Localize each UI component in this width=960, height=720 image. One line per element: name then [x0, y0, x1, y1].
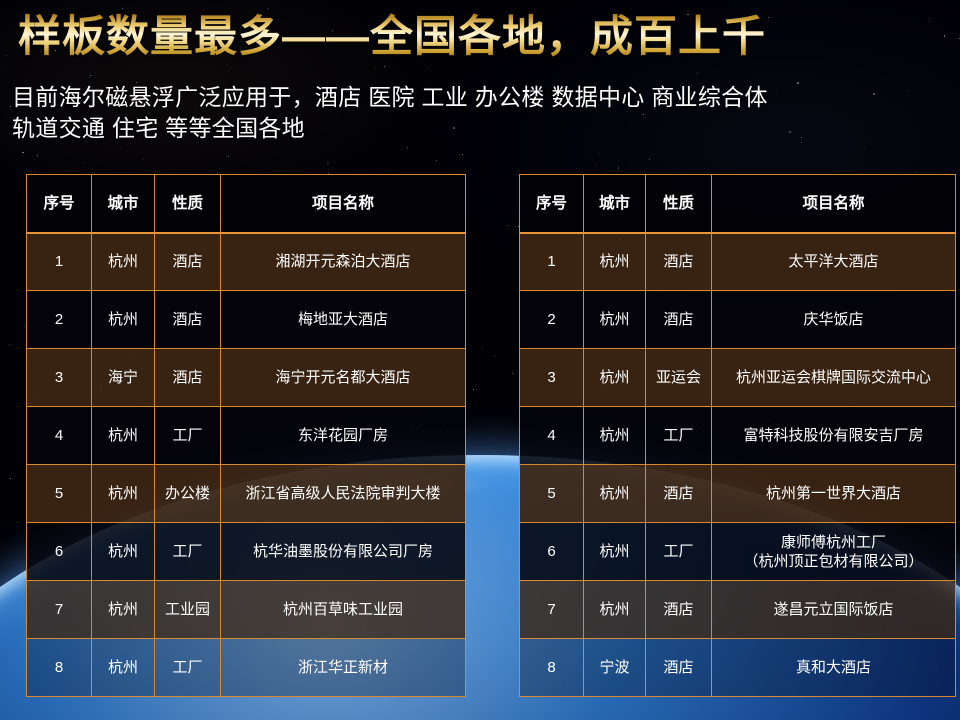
table-row: 4杭州工厂富特科技股份有限安吉厂房: [520, 407, 956, 465]
cell-city: 杭州: [92, 465, 155, 523]
cell-city: 杭州: [584, 581, 646, 639]
cell-type: 酒店: [155, 349, 221, 407]
cell-no: 5: [27, 465, 92, 523]
cell-type: 办公楼: [155, 465, 221, 523]
headline-container: 样板数量最多——全国各地，成百上千: [18, 8, 766, 66]
cell-no: 1: [520, 233, 584, 291]
cell-no: 4: [520, 407, 584, 465]
table-row: 7杭州酒店遂昌元立国际饭店: [520, 581, 956, 639]
cell-no: 4: [27, 407, 92, 465]
cell-city: 杭州: [584, 291, 646, 349]
project-table-right: 序号 城市 性质 项目名称 1杭州酒店太平洋大酒店2杭州酒店庆华饭店3杭州亚运会…: [519, 174, 956, 697]
cell-project-name: 真和大酒店: [712, 639, 956, 697]
table-row: 1杭州酒店湘湖开元森泊大酒店: [27, 233, 466, 291]
cell-city: 杭州: [584, 407, 646, 465]
table-row: 8宁波酒店真和大酒店: [520, 639, 956, 697]
table-row: 6杭州工厂杭华油墨股份有限公司厂房: [27, 523, 466, 581]
table-row: 3海宁酒店海宁开元名都大酒店: [27, 349, 466, 407]
cell-no: 3: [520, 349, 584, 407]
cell-project-name: 遂昌元立国际饭店: [712, 581, 956, 639]
table-right-header-row: 序号 城市 性质 项目名称: [520, 175, 956, 233]
cell-project-name: 康师傅杭州工厂 （杭州顶正包材有限公司）: [712, 523, 956, 581]
subtitle-block: 目前海尔磁悬浮广泛应用于，酒店 医院 工业 办公楼 数据中心 商业综合体 轨道交…: [12, 82, 952, 144]
cell-type: 酒店: [646, 291, 712, 349]
table-row: 7杭州工业园杭州百草味工业园: [27, 581, 466, 639]
cell-type: 工厂: [155, 523, 221, 581]
table-row: 8杭州工厂浙江华正新材: [27, 639, 466, 697]
cell-project-name: 梅地亚大酒店: [221, 291, 466, 349]
cell-project-name: 海宁开元名都大酒店: [221, 349, 466, 407]
cell-type: 工厂: [646, 523, 712, 581]
header-city: 城市: [584, 175, 646, 233]
cell-type: 工厂: [155, 639, 221, 697]
cell-project-name: 杭华油墨股份有限公司厂房: [221, 523, 466, 581]
cell-city: 杭州: [584, 523, 646, 581]
cell-type: 酒店: [646, 581, 712, 639]
cell-city: 杭州: [584, 233, 646, 291]
cell-project-name: 杭州第一世界大酒店: [712, 465, 956, 523]
table-row: 6杭州工厂康师傅杭州工厂 （杭州顶正包材有限公司）: [520, 523, 956, 581]
table-left-header-row: 序号 城市 性质 项目名称: [27, 175, 466, 233]
table-left-body: 1杭州酒店湘湖开元森泊大酒店2杭州酒店梅地亚大酒店3海宁酒店海宁开元名都大酒店4…: [27, 233, 466, 697]
table-right-head: 序号 城市 性质 项目名称: [520, 175, 956, 233]
page-title: 样板数量最多——全国各地，成百上千: [18, 8, 766, 66]
table-row: 2杭州酒店梅地亚大酒店: [27, 291, 466, 349]
cell-no: 8: [520, 639, 584, 697]
cell-type: 酒店: [646, 233, 712, 291]
cell-no: 2: [520, 291, 584, 349]
table-row: 2杭州酒店庆华饭店: [520, 291, 956, 349]
table-row: 3杭州亚运会杭州亚运会棋牌国际交流中心: [520, 349, 956, 407]
cell-city: 杭州: [92, 233, 155, 291]
header-no: 序号: [520, 175, 584, 233]
cell-project-name: 庆华饭店: [712, 291, 956, 349]
cell-city: 宁波: [584, 639, 646, 697]
cell-city: 杭州: [92, 523, 155, 581]
header-type: 性质: [646, 175, 712, 233]
cell-type: 亚运会: [646, 349, 712, 407]
cell-project-name: 杭州亚运会棋牌国际交流中心: [712, 349, 956, 407]
cell-city: 杭州: [92, 639, 155, 697]
cell-city: 杭州: [584, 349, 646, 407]
cell-no: 6: [520, 523, 584, 581]
cell-no: 6: [27, 523, 92, 581]
subtitle-line-1: 目前海尔磁悬浮广泛应用于，酒店 医院 工业 办公楼 数据中心 商业综合体: [12, 84, 768, 110]
header-no: 序号: [27, 175, 92, 233]
cell-type: 酒店: [155, 291, 221, 349]
cell-city: 杭州: [92, 407, 155, 465]
header-city: 城市: [92, 175, 155, 233]
cell-project-name: 浙江省高级人民法院审判大楼: [221, 465, 466, 523]
subtitle-line-2: 轨道交通 住宅 等等全国各地: [12, 113, 952, 144]
cell-project-name: 太平洋大酒店: [712, 233, 956, 291]
cell-no: 5: [520, 465, 584, 523]
cell-no: 2: [27, 291, 92, 349]
table-left-head: 序号 城市 性质 项目名称: [27, 175, 466, 233]
cell-no: 7: [520, 581, 584, 639]
cell-project-name: 湘湖开元森泊大酒店: [221, 233, 466, 291]
cell-type: 工厂: [646, 407, 712, 465]
cell-type: 酒店: [155, 233, 221, 291]
cell-type: 酒店: [646, 465, 712, 523]
project-table-left: 序号 城市 性质 项目名称 1杭州酒店湘湖开元森泊大酒店2杭州酒店梅地亚大酒店3…: [26, 174, 466, 697]
cell-no: 8: [27, 639, 92, 697]
header-type: 性质: [155, 175, 221, 233]
cell-no: 7: [27, 581, 92, 639]
table-row: 5杭州酒店杭州第一世界大酒店: [520, 465, 956, 523]
cell-project-name: 杭州百草味工业园: [221, 581, 466, 639]
table-right-body: 1杭州酒店太平洋大酒店2杭州酒店庆华饭店3杭州亚运会杭州亚运会棋牌国际交流中心4…: [520, 233, 956, 697]
cell-type: 工业园: [155, 581, 221, 639]
header-project-name: 项目名称: [221, 175, 466, 233]
table-row: 1杭州酒店太平洋大酒店: [520, 233, 956, 291]
cell-no: 1: [27, 233, 92, 291]
cell-project-name: 浙江华正新材: [221, 639, 466, 697]
cell-type: 工厂: [155, 407, 221, 465]
cell-city: 杭州: [92, 291, 155, 349]
cell-project-name: 富特科技股份有限安吉厂房: [712, 407, 956, 465]
cell-city: 海宁: [92, 349, 155, 407]
cell-no: 3: [27, 349, 92, 407]
cell-city: 杭州: [584, 465, 646, 523]
cell-project-name: 东洋花园厂房: [221, 407, 466, 465]
header-project-name: 项目名称: [712, 175, 956, 233]
table-row: 5杭州办公楼浙江省高级人民法院审判大楼: [27, 465, 466, 523]
table-row: 4杭州工厂东洋花园厂房: [27, 407, 466, 465]
cell-type: 酒店: [646, 639, 712, 697]
cell-city: 杭州: [92, 581, 155, 639]
